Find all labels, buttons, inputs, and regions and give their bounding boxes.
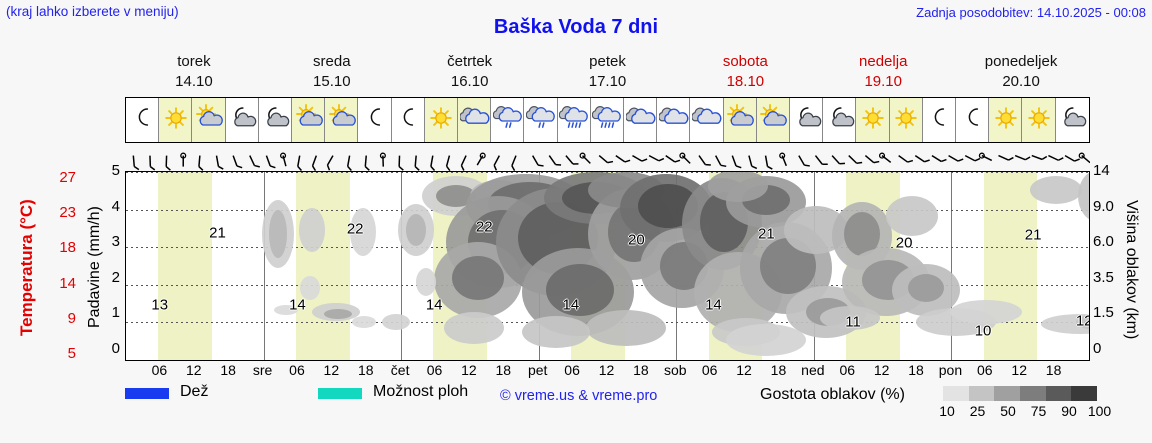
precipitation-tick: 2 — [100, 269, 120, 286]
temperature-value-label: 14 — [289, 296, 306, 313]
time-tick-label: 12 — [599, 362, 615, 378]
temperature-value-label: 20 — [896, 234, 913, 251]
day-name: ponedeljek — [985, 52, 1058, 72]
day-header-torek: torek14.10 — [125, 52, 263, 96]
time-tick-label: 18 — [908, 362, 924, 378]
temperature-tick: 27 — [42, 169, 76, 186]
weather-icon-cell — [657, 98, 690, 142]
plot-data: 132114221422142014211120102112 — [126, 172, 1089, 360]
temperature-value-label: 11 — [845, 314, 861, 331]
time-tick-label: 12 — [186, 362, 202, 378]
cloud-height-tick: 3.5 — [1093, 269, 1129, 286]
sun-cloud-icon — [194, 103, 224, 138]
cloud-density-step — [1071, 386, 1097, 401]
moon-cloud-icon — [825, 103, 855, 138]
time-tick-label: 12 — [1011, 362, 1027, 378]
weather-icon-cell — [690, 98, 723, 142]
temperature-value-label: 21 — [209, 225, 226, 242]
temperature-value-label: 14 — [705, 296, 722, 313]
cloud-height-tick: 6.0 — [1093, 233, 1129, 250]
moon-clear-icon — [924, 103, 954, 138]
moon-cloud-icon — [792, 103, 822, 138]
time-tick-label: 18 — [1046, 362, 1062, 378]
sun-cloud-icon — [294, 103, 324, 138]
cloud-icon — [460, 103, 490, 138]
cloud-height-tick: 9.0 — [1093, 198, 1129, 215]
time-tick-label: 06 — [427, 362, 443, 378]
time-tick-label: sre — [253, 362, 272, 378]
time-tick-label: sob — [664, 362, 687, 378]
sun-cloud-icon — [327, 103, 357, 138]
weather-icon-cell — [890, 98, 923, 142]
weather-icon-cell — [425, 98, 458, 142]
time-tick-label: 06 — [289, 362, 305, 378]
cloud-density-step-label: 100 — [1088, 403, 1111, 419]
temperature-value-label: 21 — [1025, 226, 1042, 243]
time-tick-label: pon — [939, 362, 962, 378]
moon-clear-icon — [128, 103, 158, 138]
time-tick-label: 12 — [324, 362, 340, 378]
day-header-petek: petek17.10 — [539, 52, 677, 96]
cloud-density-step — [943, 386, 969, 401]
day-name: četrtek — [447, 52, 492, 72]
temperature-value-label: 22 — [476, 219, 493, 236]
weather-icon-cell — [325, 98, 358, 142]
showers-legend-label: Možnost ploh — [373, 383, 468, 401]
showers-legend-swatch — [318, 388, 362, 399]
cloud-height-tick: 1.5 — [1093, 304, 1129, 321]
time-axis-ticks: 061218sre061218čet061218pet061218sob0612… — [125, 362, 1090, 382]
cloud-icon — [659, 103, 689, 138]
cloud-rain-heavy-icon — [559, 103, 589, 138]
cloud-icon — [692, 103, 722, 138]
cloud-height-tick: 14 — [1093, 162, 1129, 179]
time-tick-label: 18 — [496, 362, 512, 378]
temperature-value-label: 14 — [563, 296, 580, 313]
precipitation-tick: 5 — [100, 162, 120, 179]
moon-cloud-icon — [227, 103, 257, 138]
weather-icon-cell — [458, 98, 491, 142]
sun-clear-icon — [161, 103, 191, 138]
time-tick-label: 18 — [358, 362, 374, 378]
precipitation-tick: 1 — [100, 304, 120, 321]
day-date: 16.10 — [451, 72, 489, 92]
precipitation-tick: 3 — [100, 233, 120, 250]
weather-icon-cell — [956, 98, 989, 142]
day-header-row: torek14.10sreda15.10četrtek16.10petek17.… — [125, 52, 1090, 96]
day-name: torek — [177, 52, 210, 72]
temperature-tick: 23 — [42, 204, 76, 221]
weather-icon-strip — [125, 97, 1090, 143]
temperature-value-label: 22 — [347, 221, 364, 238]
weather-icon-cell — [724, 98, 757, 142]
cloud-rain-icon — [526, 103, 556, 138]
day-date: 14.10 — [175, 72, 213, 92]
day-name: sobota — [723, 52, 768, 72]
sun-cloud-icon — [758, 103, 788, 138]
moon-clear-icon — [393, 103, 423, 138]
time-tick-label: 06 — [702, 362, 718, 378]
weather-icon-cell — [392, 98, 425, 142]
temperature-value-label: 10 — [975, 322, 992, 339]
weather-icon-cell — [524, 98, 557, 142]
weather-icon-cell — [823, 98, 856, 142]
cloud-density-step — [1020, 386, 1046, 401]
sun-clear-icon — [991, 103, 1021, 138]
precipitation-tick: 0 — [100, 340, 120, 357]
weather-icon-cell — [757, 98, 790, 142]
weather-icon-cell — [558, 98, 591, 142]
time-tick-label: 18 — [633, 362, 649, 378]
weather-icon-cell — [259, 98, 292, 142]
weather-icon-cell — [790, 98, 823, 142]
time-tick-label: 06 — [977, 362, 993, 378]
temperature-value-label: 13 — [151, 296, 168, 313]
time-tick-label: 06 — [839, 362, 855, 378]
temperature-tick: 14 — [42, 275, 76, 292]
copyright-label: © vreme.us & vreme.pro — [500, 388, 657, 404]
time-tick-label: 18 — [220, 362, 236, 378]
temperature-tick: 5 — [42, 345, 76, 362]
day-header-sobota: sobota18.10 — [676, 52, 814, 96]
moon-clear-icon — [360, 103, 390, 138]
day-date: 17.10 — [589, 72, 627, 92]
cloud-density-step-label: 25 — [970, 403, 986, 419]
time-tick-label: 06 — [152, 362, 168, 378]
cloud-height-tick: 0 — [1093, 340, 1129, 357]
temperature-value-label: 12 — [1076, 313, 1090, 330]
cloud-density-scale-labels: 1025507590100 — [925, 403, 1120, 421]
chart-legend: Dež Možnost ploh © vreme.us & vreme.pro … — [125, 386, 1145, 428]
day-date: 20.10 — [1002, 72, 1040, 92]
sun-clear-icon — [891, 103, 921, 138]
weather-icon-cell — [1022, 98, 1055, 142]
cloud-density-step-label: 75 — [1031, 403, 1047, 419]
sun-clear-icon — [426, 103, 456, 138]
temperature-axis-title: Temperatura (°C) — [14, 170, 40, 365]
day-header-sreda: sreda15.10 — [263, 52, 401, 96]
precipitation-tick: 4 — [100, 198, 120, 215]
weather-icon-cell — [989, 98, 1022, 142]
cloud-icon — [626, 103, 656, 138]
weather-icon-cell — [1056, 98, 1089, 142]
day-name: sreda — [313, 52, 351, 72]
temperature-value-label: 14 — [426, 296, 443, 313]
forecast-plot: 132114221422142014211120102112 — [125, 171, 1090, 361]
time-tick-label: pet — [528, 362, 547, 378]
weather-icon-cell — [126, 98, 159, 142]
cloud-rain-heavy-icon — [592, 103, 622, 138]
last-update-label: Zadnja posodobitev: 14.10.2025 - 00:08 — [916, 5, 1146, 20]
moon-clear-icon — [958, 103, 988, 138]
cloud-density-step-label: 50 — [1000, 403, 1016, 419]
day-name: petek — [589, 52, 626, 72]
cloud-density-legend-title: Gostota oblakov (%) — [760, 386, 905, 404]
day-header-četrtek: četrtek16.10 — [401, 52, 539, 96]
cloud-density-step — [994, 386, 1020, 401]
weather-icon-cell — [923, 98, 956, 142]
cloud-rain-icon — [493, 103, 523, 138]
cloud-density-step — [1046, 386, 1072, 401]
weather-icon-cell — [591, 98, 624, 142]
time-tick-label: 12 — [461, 362, 477, 378]
weather-icon-cell — [292, 98, 325, 142]
wind-barb-strip — [125, 143, 1090, 171]
time-tick-label: ned — [801, 362, 824, 378]
rain-legend-swatch — [125, 388, 169, 399]
time-tick-label: 12 — [874, 362, 890, 378]
time-tick-label: 18 — [771, 362, 787, 378]
time-tick-label: 12 — [736, 362, 752, 378]
moon-cloud-icon — [1057, 103, 1087, 138]
weather-icon-cell — [159, 98, 192, 142]
weather-icon-cell — [226, 98, 259, 142]
sun-clear-icon — [858, 103, 888, 138]
weather-icon-cell — [624, 98, 657, 142]
weather-icon-cell — [192, 98, 225, 142]
sun-cloud-icon — [725, 103, 755, 138]
cloud-density-step-label: 10 — [939, 403, 955, 419]
time-tick-label: čet — [391, 362, 410, 378]
day-header-ponedeljek: ponedeljek20.10 — [952, 52, 1090, 96]
temperature-tick: 18 — [42, 239, 76, 256]
day-date: 18.10 — [727, 72, 765, 92]
temperature-value-label: 20 — [628, 231, 645, 248]
temperature-value-label: 21 — [758, 226, 775, 243]
day-name: nedelja — [859, 52, 907, 72]
day-date: 15.10 — [313, 72, 351, 92]
moon-cloud-icon — [260, 103, 290, 138]
day-header-nedelja: nedelja19.10 — [814, 52, 952, 96]
cloud-density-field — [126, 172, 1089, 360]
weather-icon-cell — [491, 98, 524, 142]
cloud-density-step — [969, 386, 995, 401]
cloud-density-step-label: 90 — [1061, 403, 1077, 419]
rain-legend-label: Dež — [180, 383, 208, 401]
time-tick-label: 06 — [564, 362, 580, 378]
day-date: 19.10 — [864, 72, 902, 92]
weather-icon-cell — [856, 98, 889, 142]
cloud-density-color-ramp — [943, 386, 1097, 401]
temperature-tick: 9 — [42, 310, 76, 327]
sun-clear-icon — [1024, 103, 1054, 138]
weather-icon-cell — [358, 98, 391, 142]
